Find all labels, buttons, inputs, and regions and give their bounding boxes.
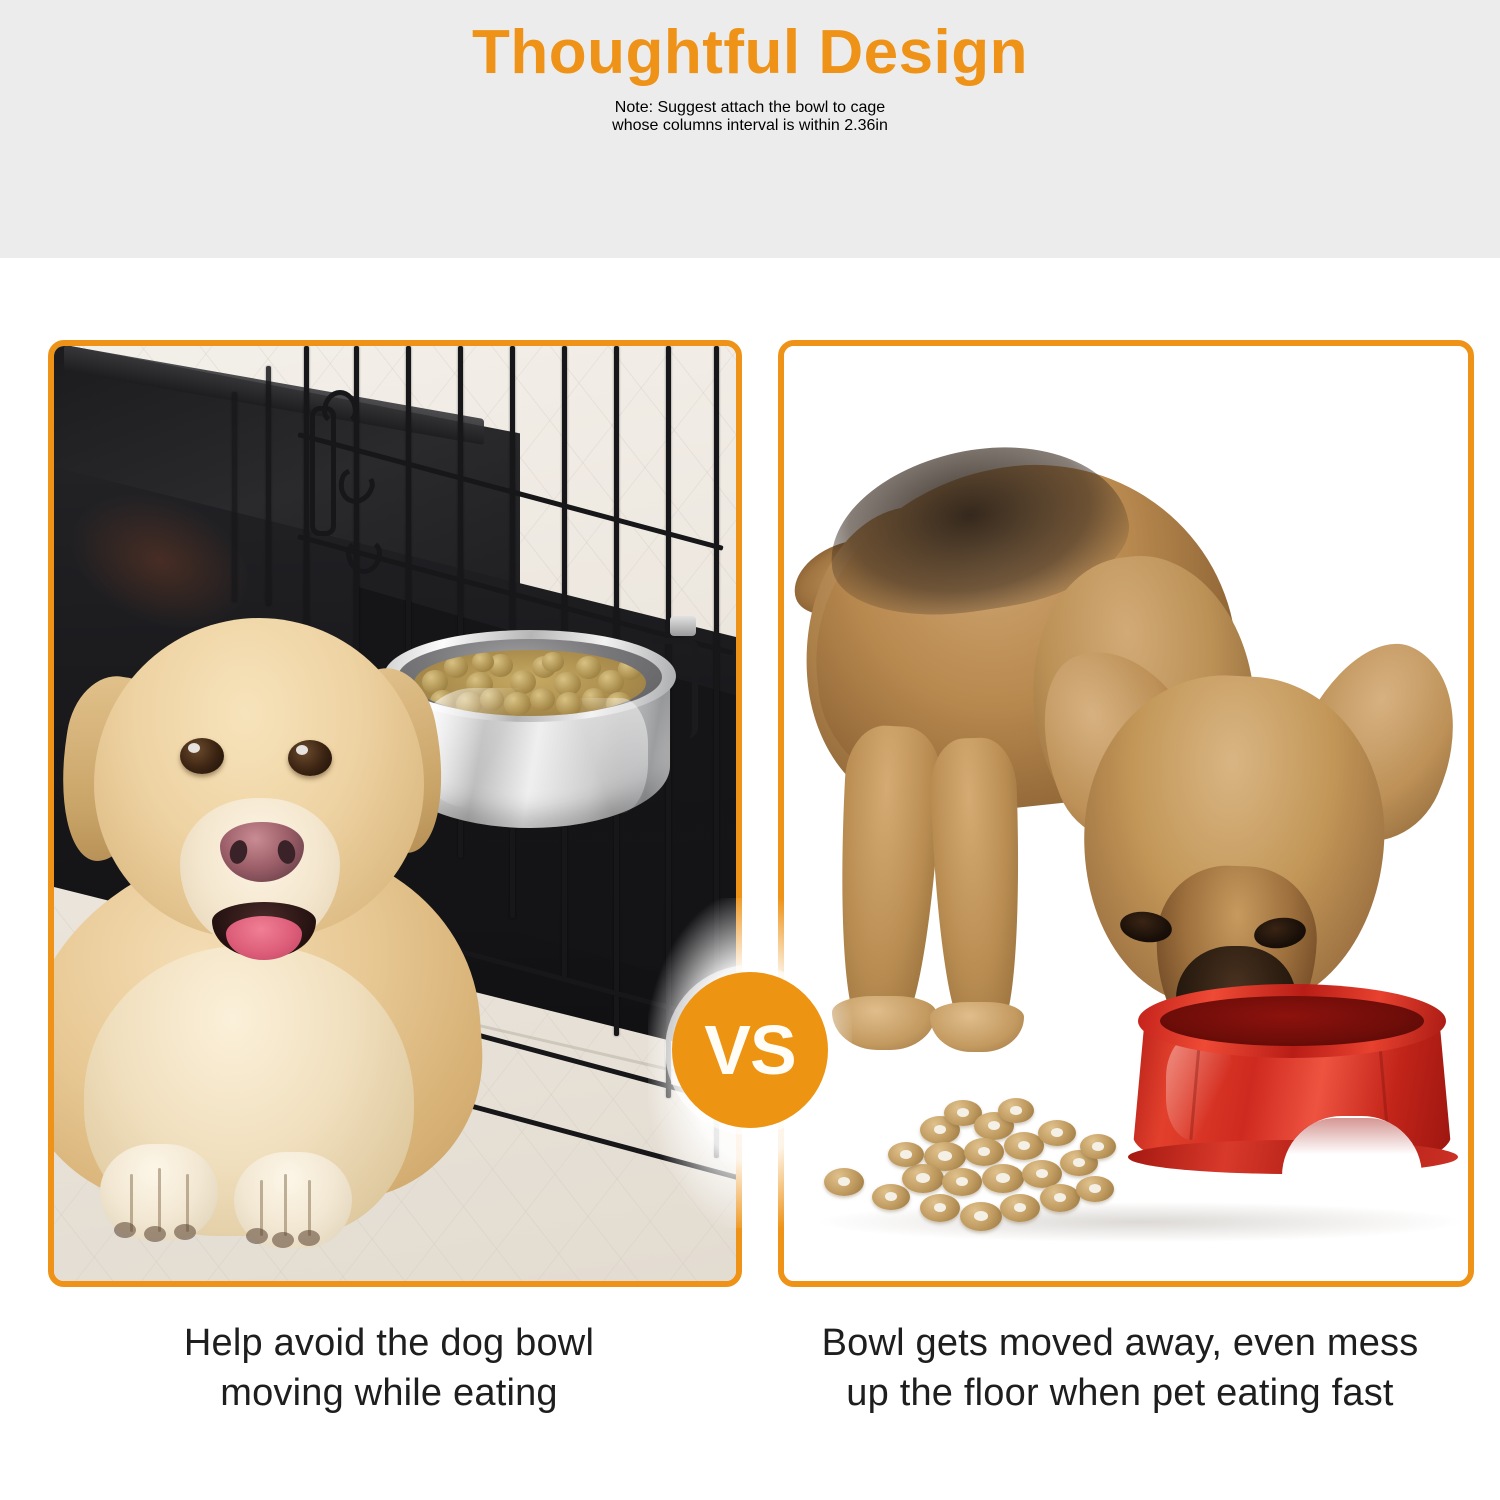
photo-loose-red-bowl (784, 346, 1468, 1281)
dog-eye-right (288, 740, 332, 776)
caption-right-line-1: Bowl gets moved away, even mess (778, 1318, 1462, 1368)
cage-latch-hook (322, 390, 358, 426)
bowl-cavity (1160, 996, 1424, 1046)
header-banner: Thoughtful Design Note: Suggest attach t… (0, 0, 1500, 258)
caption-left: Help avoid the dog bowl moving while eat… (48, 1318, 730, 1418)
cage-latch (310, 406, 336, 536)
comparison-section: VS Help avoid the dog bowl moving while … (0, 258, 1500, 1500)
spilled-kibble-pile (824, 1098, 1124, 1248)
vs-label: VS (704, 1015, 795, 1085)
bowl-mounting-bracket (652, 638, 698, 738)
red-plastic-bowl (1132, 984, 1454, 1180)
comparison-panel-right (778, 340, 1474, 1287)
caption-right: Bowl gets moved away, even mess up the f… (778, 1318, 1462, 1418)
cage-wire-back (266, 366, 271, 606)
vs-badge: VS (672, 972, 828, 1128)
dog-eye-left (180, 738, 224, 774)
dog-paw-right (234, 1152, 352, 1248)
subtitle-line-2: whose columns interval is within 2.36in (612, 117, 888, 135)
caption-left-line-2: moving while eating (48, 1368, 730, 1418)
dog-eye-glint (188, 743, 200, 753)
page-title: Thoughtful Design (472, 18, 1028, 87)
subtitle-line-1: Note: Suggest attach the bowl to cage (615, 99, 885, 117)
comparison-panel-left (48, 340, 742, 1287)
dog-paw-left (100, 1144, 218, 1240)
photo-crate-mounted-bowl (54, 346, 736, 1281)
caption-left-line-1: Help avoid the dog bowl (48, 1318, 730, 1368)
bowl-mounting-screw (670, 616, 696, 636)
caption-right-line-2: up the floor when pet eating fast (778, 1368, 1462, 1418)
bowl-highlight-right (580, 698, 648, 814)
cage-wire-back (232, 392, 237, 602)
dog-eye-glint (296, 745, 308, 755)
